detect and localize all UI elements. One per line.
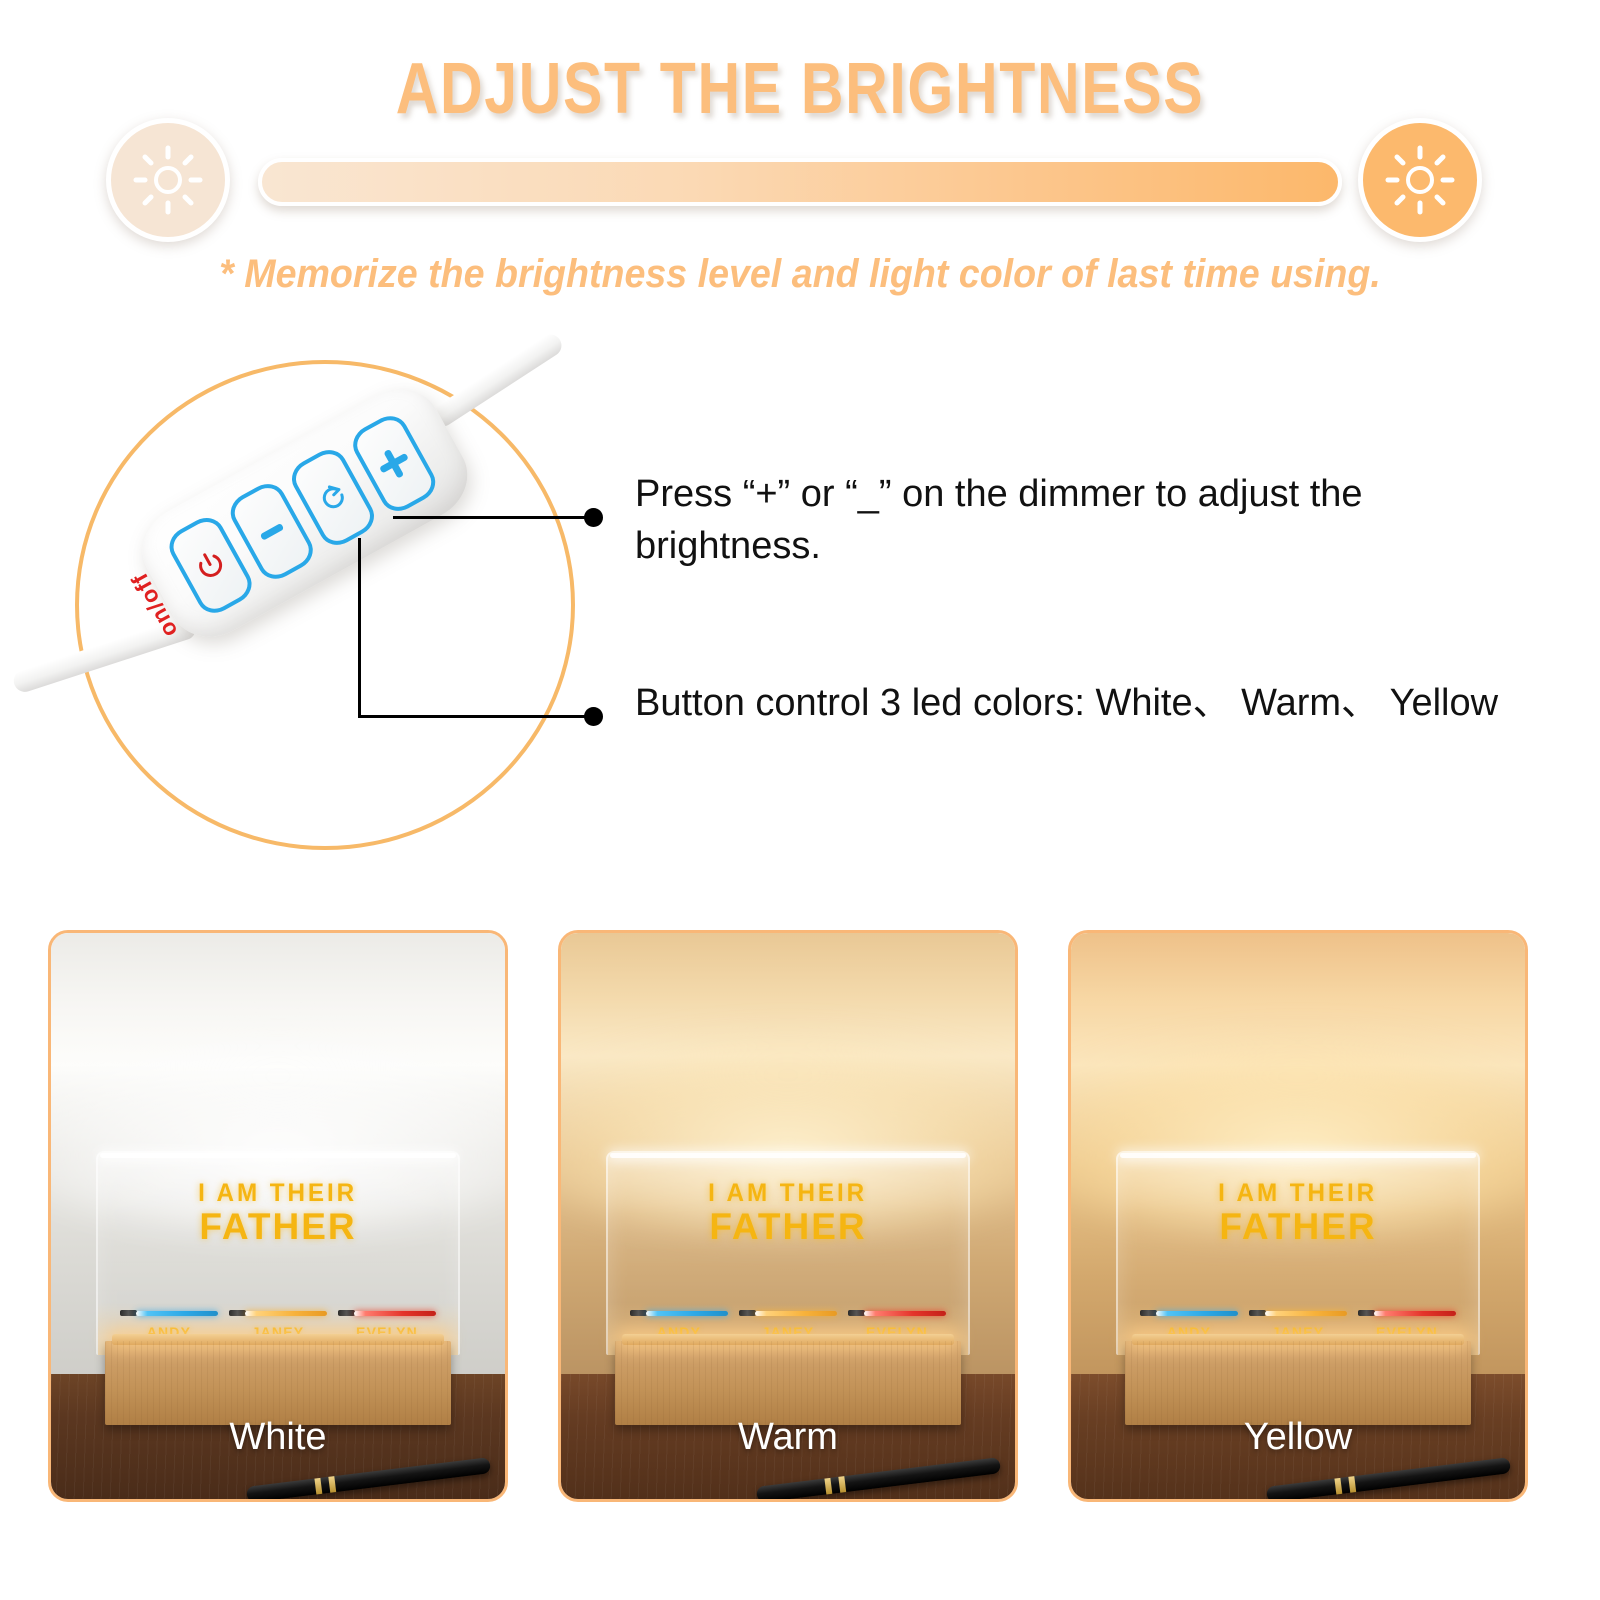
pen-band <box>329 1476 337 1493</box>
plaque-title-line2: FATHER <box>1118 1208 1477 1245</box>
page-title: ADJUST THE BRIGHTNESS <box>144 48 1456 130</box>
wooden-base <box>105 1341 450 1426</box>
pen-band <box>1349 1476 1357 1493</box>
wood-grain <box>1125 1341 1470 1426</box>
saber-hilt-icon <box>1358 1310 1375 1316</box>
plaque-title-line1: I AM THEIR <box>1124 1181 1472 1206</box>
sun-high-brightness-icon <box>1358 118 1482 242</box>
saber-hilt-icon <box>739 1310 756 1316</box>
acrylic-plaque: I AM THEIR FATHER ANDY JANEY <box>606 1151 969 1355</box>
plus-icon <box>374 443 415 484</box>
saber-blade-orange <box>755 1311 837 1316</box>
header-section: ADJUST THE BRIGHTNESS <box>0 0 1600 330</box>
callout-text-led-colors: Button control 3 led colors: White、 Warm… <box>635 677 1515 729</box>
wood-grain <box>615 1341 960 1426</box>
brightness-slider[interactable] <box>258 158 1342 206</box>
saber-hilt-icon <box>630 1310 647 1316</box>
saber-blade-red <box>1374 1311 1456 1316</box>
callout-line-1 <box>393 516 588 519</box>
saber-blade-blue <box>136 1311 218 1316</box>
callout-line-2-horizontal <box>358 715 588 718</box>
acrylic-plaque: I AM THEIR FATHER ANDY JANEY <box>1116 1151 1479 1355</box>
saber-blade-red <box>864 1311 946 1316</box>
plaque-title-line1: I AM THEIR <box>614 1181 962 1206</box>
memory-note: * Memorize the brightness level and ligh… <box>48 252 1552 297</box>
callout-line-2-vertical <box>358 538 361 718</box>
plaque-title-line2: FATHER <box>608 1208 967 1245</box>
saber-blade-blue <box>646 1311 728 1316</box>
pen-band <box>314 1478 322 1495</box>
plaque-lit-edge <box>1120 1153 1475 1158</box>
pen-band <box>1334 1478 1342 1495</box>
saber-blade-orange <box>245 1311 327 1316</box>
card-warm[interactable]: I AM THEIR FATHER ANDY JANEY <box>558 930 1018 1502</box>
saber-hilt-icon <box>1140 1310 1157 1316</box>
saber-hilt-icon <box>338 1310 355 1316</box>
wooden-base <box>615 1341 960 1426</box>
card-label-warm: Warm <box>561 1416 1015 1459</box>
saber-hilt-icon <box>848 1310 865 1316</box>
scene-yellow: I AM THEIR FATHER ANDY JANEY <box>1071 933 1525 1499</box>
saber-hilt-icon <box>1249 1310 1266 1316</box>
plaque-lit-edge <box>610 1153 965 1158</box>
scene-white: I AM THEIR FATHER ANDY JANEY <box>51 933 505 1499</box>
cord-right <box>428 330 566 430</box>
pen-band <box>839 1476 847 1493</box>
acrylic-plaque: I AM THEIR FATHER ANDY JANEY <box>96 1151 459 1355</box>
power-icon <box>190 545 231 586</box>
minus-icon <box>260 523 284 541</box>
sun-low-icon-svg <box>130 142 206 218</box>
wooden-base <box>1125 1341 1470 1426</box>
saber-hilt-icon <box>229 1310 246 1316</box>
plaque-title: I AM THEIR FATHER <box>98 1181 457 1245</box>
callout-dot-2 <box>584 707 603 726</box>
plaque-title-line2: FATHER <box>98 1208 457 1245</box>
saber-blade-blue <box>1156 1311 1238 1316</box>
wood-grain <box>105 1341 450 1426</box>
card-white[interactable]: I AM THEIR FATHER ANDY JANEY <box>48 930 508 1502</box>
sun-low-brightness-icon <box>106 118 230 242</box>
callout-dot-1 <box>584 508 603 527</box>
color-mode-cards: I AM THEIR FATHER ANDY JANEY <box>0 930 1600 1530</box>
plaque-title: I AM THEIR FATHER <box>608 1181 967 1245</box>
plaque-title-line1: I AM THEIR <box>104 1181 452 1206</box>
saber-blade-red <box>354 1311 436 1316</box>
card-label-white: White <box>51 1416 505 1459</box>
sun-high-icon-svg <box>1382 142 1458 218</box>
callout-text-plus-minus: Press “+” or “_” on the dimmer to adjust… <box>635 468 1515 573</box>
saber-blade-orange <box>1265 1311 1347 1316</box>
plaque-lit-edge <box>100 1153 455 1158</box>
cycle-arrow-icon <box>313 477 354 518</box>
card-yellow[interactable]: I AM THEIR FATHER ANDY JANEY <box>1068 930 1528 1502</box>
scene-warm: I AM THEIR FATHER ANDY JANEY <box>561 933 1015 1499</box>
pen-band <box>824 1478 832 1495</box>
card-label-yellow: Yellow <box>1071 1416 1525 1459</box>
plaque-title: I AM THEIR FATHER <box>1118 1181 1477 1245</box>
dimmer-section: on/off Press “+” or “_” on the dimmer to… <box>0 350 1600 890</box>
saber-hilt-icon <box>120 1310 137 1316</box>
